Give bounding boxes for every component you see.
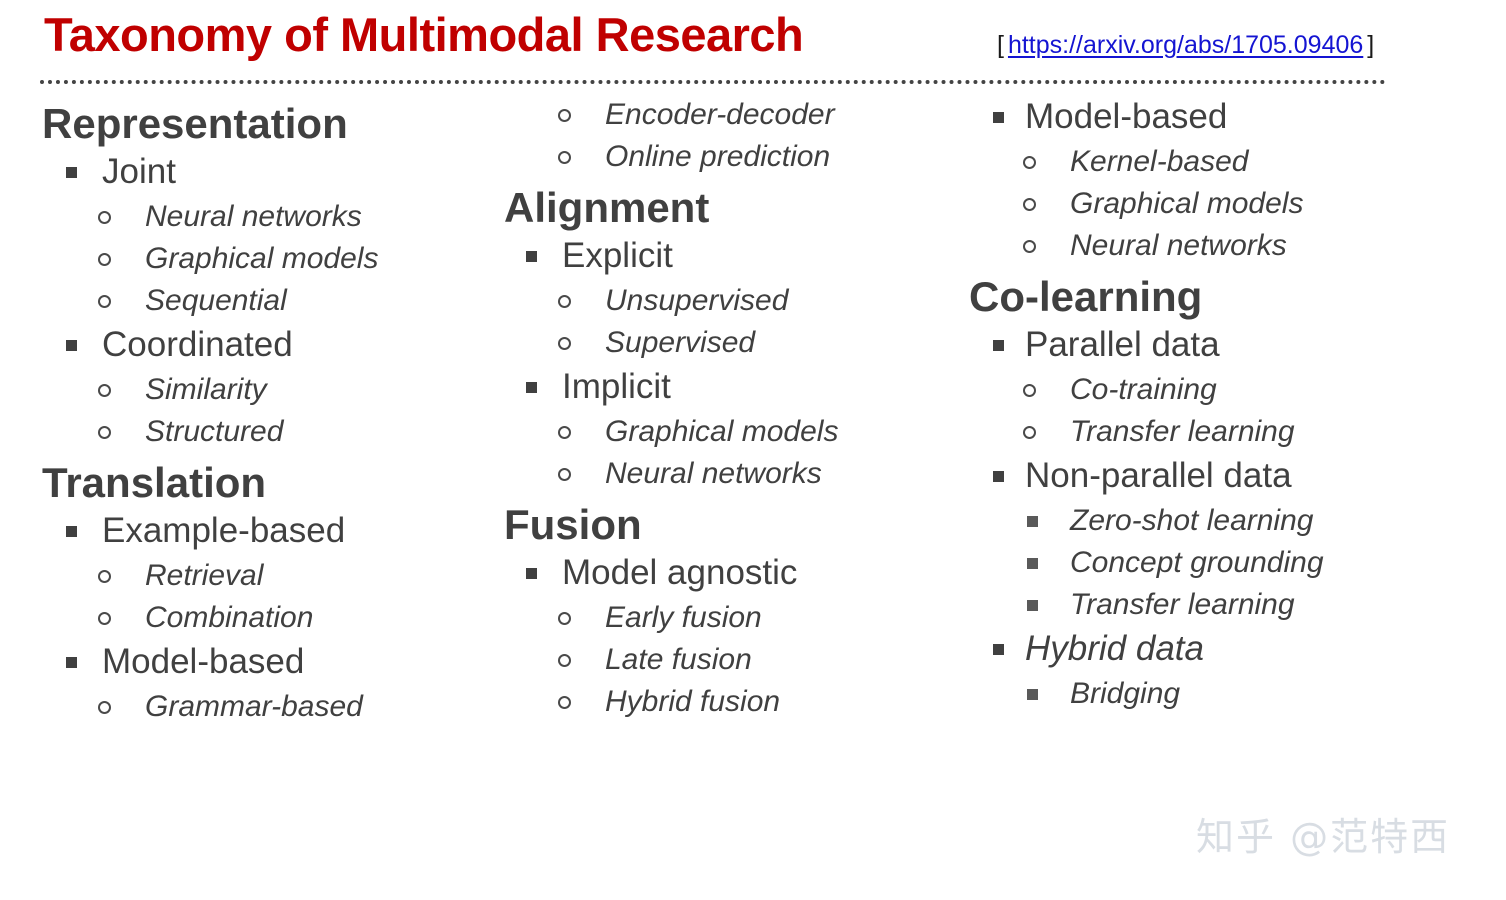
taxonomy-item-label: Model-based xyxy=(955,95,1455,139)
taxonomy-item-level3: Transfer learning xyxy=(955,412,1455,451)
taxonomy-item-label: Translation xyxy=(40,459,500,506)
taxonomy-item-level1: Translation xyxy=(40,459,500,506)
taxonomy-item-level2: Hybrid data xyxy=(955,627,1455,671)
square-bullet-icon xyxy=(1027,689,1038,700)
taxonomy-item-label: Representation xyxy=(40,100,500,147)
square-bullet-icon xyxy=(993,644,1004,655)
square-bullet-icon xyxy=(993,112,1004,123)
taxonomy-item-level3: Graphical models xyxy=(40,239,500,278)
taxonomy-item-level1: Representation xyxy=(40,100,500,147)
square-bullet-icon xyxy=(66,526,77,537)
taxonomy-item-level2: Joint xyxy=(40,150,500,194)
taxonomy-item-level1: Alignment xyxy=(500,184,955,231)
taxonomy-item-label: Co-learning xyxy=(955,273,1455,320)
taxonomy-item-level2: Parallel data xyxy=(955,323,1455,367)
taxonomy-item-level3: Kernel-based xyxy=(955,142,1455,181)
bracket-close-text: ] xyxy=(1367,31,1374,59)
taxonomy-item-level3: Retrieval xyxy=(40,556,500,595)
taxonomy-item-label: Model agnostic xyxy=(500,551,955,595)
taxonomy-column-left: RepresentationJointNeural networksGraphi… xyxy=(40,92,500,900)
taxonomy-column-right: Model-basedKernel-basedGraphical modelsN… xyxy=(955,92,1455,900)
taxonomy-item-label: Hybrid data xyxy=(955,627,1455,671)
taxonomy-column-middle: Encoder-decoderOnline predictionAlignmen… xyxy=(500,92,955,900)
square-bullet-icon xyxy=(993,471,1004,482)
circle-bullet-icon xyxy=(1023,240,1036,253)
taxonomy-item-label: Coordinated xyxy=(40,323,500,367)
taxonomy-item-level2: Example-based xyxy=(40,509,500,553)
taxonomy-item-label: Explicit xyxy=(500,234,955,278)
square-bullet-icon xyxy=(526,568,537,579)
taxonomy-item-level3: Concept grounding xyxy=(955,543,1455,582)
taxonomy-item-label: Parallel data xyxy=(955,323,1455,367)
taxonomy-item-level3: Neural networks xyxy=(500,454,955,493)
circle-bullet-icon xyxy=(558,109,571,122)
circle-bullet-icon xyxy=(1023,198,1036,211)
arxiv-reference-link[interactable]: https://arxiv.org/abs/1705.09406 xyxy=(1004,31,1367,59)
taxonomy-item-level3: Encoder-decoder xyxy=(500,95,955,134)
taxonomy-item-level3: Supervised xyxy=(500,323,955,362)
bracket-open-text: [ xyxy=(997,31,1004,59)
taxonomy-item-label: Model-based xyxy=(40,640,500,684)
taxonomy-item-level1: Co-learning xyxy=(955,273,1455,320)
circle-bullet-icon xyxy=(558,151,571,164)
circle-bullet-icon xyxy=(1023,156,1036,169)
taxonomy-item-level3: Graphical models xyxy=(500,412,955,451)
taxonomy-item-label: Alignment xyxy=(500,184,955,231)
taxonomy-item-label: Fusion xyxy=(500,501,955,548)
taxonomy-item-level3: Bridging xyxy=(955,674,1455,713)
taxonomy-item-level2: Model-based xyxy=(955,95,1455,139)
taxonomy-item-level2: Implicit xyxy=(500,365,955,409)
taxonomy-item-level3: Early fusion xyxy=(500,598,955,637)
taxonomy-item-level3: Zero-shot learning xyxy=(955,501,1455,540)
square-bullet-icon xyxy=(66,340,77,351)
page-title: Taxonomy of Multimodal Research xyxy=(44,8,803,62)
taxonomy-item-level3: Co-training xyxy=(955,370,1455,409)
taxonomy-item-level3: Structured xyxy=(40,412,500,451)
taxonomy-item-label: Non-parallel data xyxy=(955,454,1455,498)
reference-citation: [https://arxiv.org/abs/1705.09406] xyxy=(997,32,1374,60)
slide-header: Taxonomy of Multimodal Research [https:/… xyxy=(0,0,1506,92)
header-dotted-divider xyxy=(40,80,1386,84)
taxonomy-item-level3: Late fusion xyxy=(500,640,955,679)
taxonomy-item-level3: Transfer learning xyxy=(955,585,1455,624)
taxonomy-item-label: Implicit xyxy=(500,365,955,409)
taxonomy-item-level1: Fusion xyxy=(500,501,955,548)
square-bullet-icon xyxy=(1027,558,1038,569)
taxonomy-item-level3: Graphical models xyxy=(955,184,1455,223)
taxonomy-item-level3: Hybrid fusion xyxy=(500,682,955,721)
square-bullet-icon xyxy=(993,340,1004,351)
taxonomy-item-level3: Sequential xyxy=(40,281,500,320)
taxonomy-columns: RepresentationJointNeural networksGraphi… xyxy=(0,92,1506,900)
taxonomy-item-level2: Coordinated xyxy=(40,323,500,367)
square-bullet-icon xyxy=(66,657,77,668)
square-bullet-icon xyxy=(526,382,537,393)
taxonomy-item-level3: Neural networks xyxy=(40,197,500,236)
taxonomy-item-level3: Online prediction xyxy=(500,137,955,176)
square-bullet-icon xyxy=(1027,600,1038,611)
square-bullet-icon xyxy=(66,167,77,178)
square-bullet-icon xyxy=(1027,516,1038,527)
square-bullet-icon xyxy=(526,251,537,262)
taxonomy-item-level2: Explicit xyxy=(500,234,955,278)
taxonomy-item-label: Joint xyxy=(40,150,500,194)
taxonomy-item-level3: Grammar-based xyxy=(40,687,500,726)
taxonomy-item-level2: Model agnostic xyxy=(500,551,955,595)
taxonomy-item-level3: Neural networks xyxy=(955,226,1455,265)
taxonomy-item-label: Example-based xyxy=(40,509,500,553)
taxonomy-item-level2: Model-based xyxy=(40,640,500,684)
taxonomy-item-level2: Non-parallel data xyxy=(955,454,1455,498)
taxonomy-item-level3: Similarity xyxy=(40,370,500,409)
taxonomy-item-level3: Combination xyxy=(40,598,500,637)
taxonomy-item-level3: Unsupervised xyxy=(500,281,955,320)
